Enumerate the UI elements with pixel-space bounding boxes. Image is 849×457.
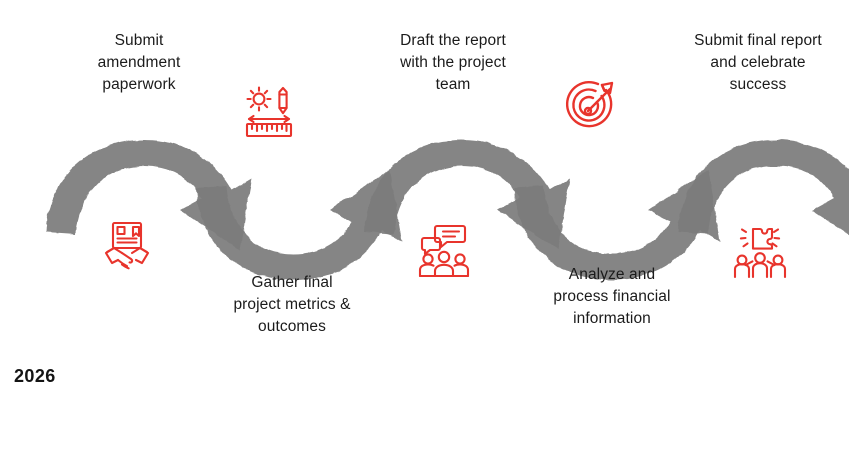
step-label-4: Analyze and process financial informatio…	[512, 264, 712, 330]
timeline: Jan Jan–Feb Feb Feb–Mar Mar	[0, 340, 849, 457]
step-label-5: Submit final report and celebrate succes…	[668, 30, 848, 96]
handshake-agreement-icon	[95, 215, 159, 279]
step-label-1: Submit amendment paperwork	[44, 30, 234, 96]
gear-ruler-pencil-icon	[237, 80, 301, 144]
diagram-canvas: Submit amendment paperwork	[0, 0, 849, 457]
team-meeting-icon	[412, 220, 476, 284]
target-dart-icon	[558, 76, 622, 140]
step-label-2: Gather final project metrics & outcomes	[192, 272, 392, 338]
step-label-3: Draft the report with the project team	[358, 30, 548, 96]
team-celebration-puzzle-icon	[728, 220, 792, 284]
process-arrow-2	[196, 170, 402, 280]
